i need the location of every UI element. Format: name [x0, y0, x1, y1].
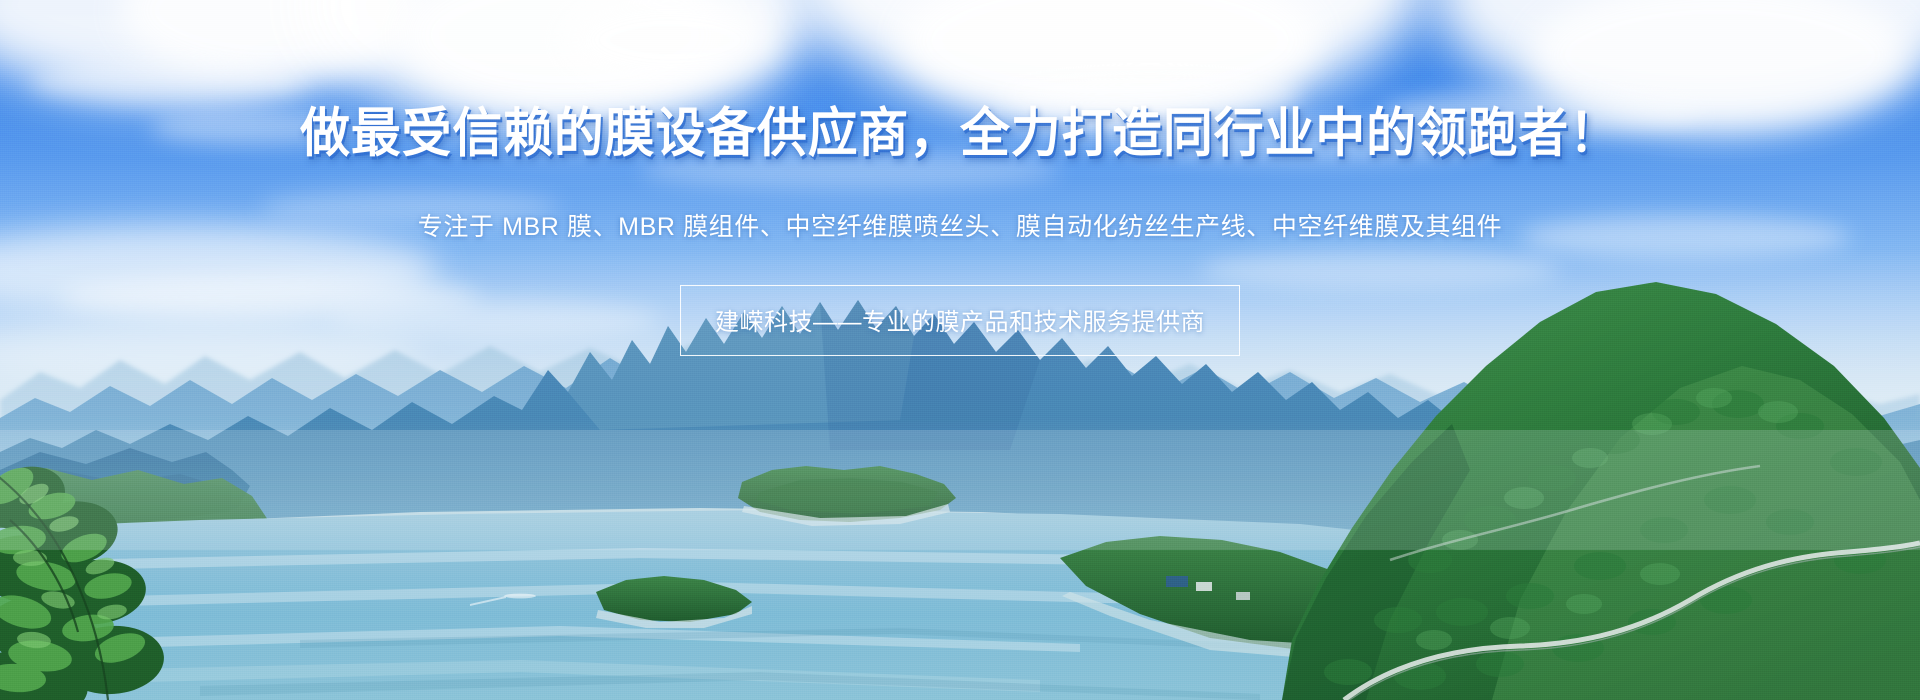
hero-banner: 做最受信赖的膜设备供应商，全力打造同行业中的领跑者！ 专注于 MBR 膜、MBR… [0, 0, 1920, 700]
photo-grain-overlay [0, 0, 1920, 700]
